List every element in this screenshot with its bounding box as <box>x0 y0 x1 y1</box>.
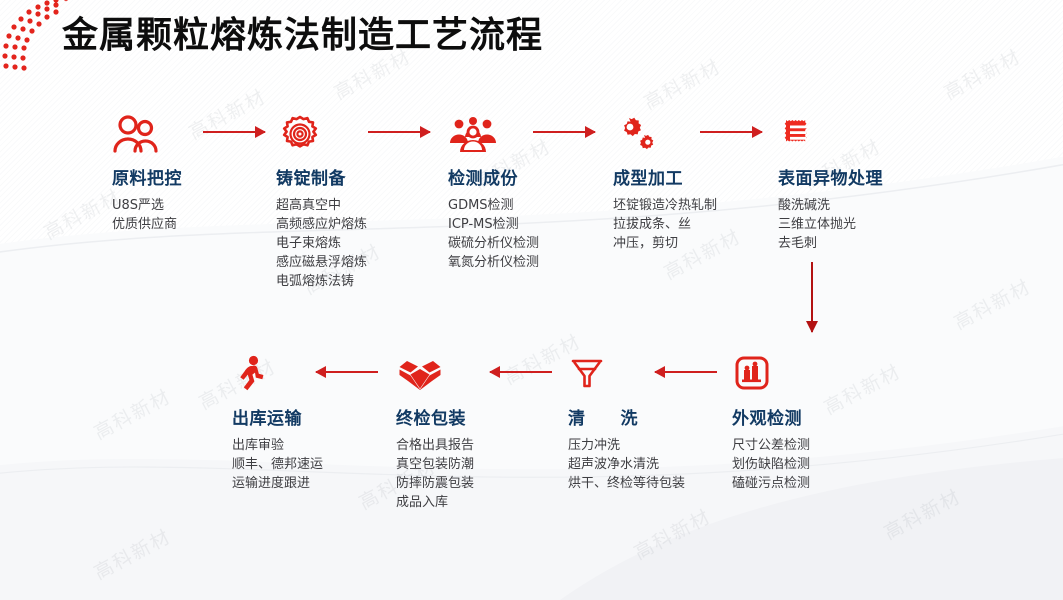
step-detail-lines: U8S严选 优质供应商 <box>112 196 277 234</box>
step-detail-line: 顺丰、德邦速运 <box>232 455 397 474</box>
step-title: 表面异物处理 <box>778 164 943 189</box>
step-detail-line: U8S严选 <box>112 196 277 215</box>
step-title: 成型加工 <box>613 164 778 189</box>
step-title: 检测成份 <box>448 164 613 189</box>
step-detail-lines: 坯锭锻造冷热轧制 拉拔成条、丝 冲压，剪切 <box>613 196 778 253</box>
step-detail-line: 碳硫分析仪检测 <box>448 234 613 253</box>
step-detail-lines: 合格出具报告 真空包装防潮 防摔防震包装 成品入库 <box>396 436 561 512</box>
open-box-icon <box>396 352 561 394</box>
slide-canvas: 高科新材 高科新材 高科新材 高科新材 高科新材 高科新材 高科新材 高科新材 … <box>0 0 1063 600</box>
step-ingot-preparation[interactable]: 铸锭制备 超高真空中 高频感应炉熔炼 电子束熔炼 感应磁悬浮熔炼 电弧熔炼法铸 <box>276 112 441 291</box>
step-appearance-inspection[interactable]: 外观检测 尺寸公差检测 划伤缺陷检测 磕碰污点检测 <box>732 352 897 493</box>
step-detail-line: 高频感应炉熔炼 <box>276 215 441 234</box>
step-cleaning[interactable]: 清 洗 压力冲洗 超声波净水清洗 烘干、终检等待包装 <box>568 352 733 493</box>
step-detail-line: 成品入库 <box>396 493 561 512</box>
watermark-text: 高科新材 <box>89 522 176 585</box>
step-final-inspection-packaging[interactable]: 终检包装 合格出具报告 真空包装防潮 防摔防震包装 成品入库 <box>396 352 561 512</box>
step-detail-line: 运输进度跟进 <box>232 474 397 493</box>
inspection-badge-icon <box>732 352 897 394</box>
step-detail-line: 防摔防震包装 <box>396 474 561 493</box>
step-detail-line: 氧氮分析仪检测 <box>448 253 613 272</box>
step-detail-line: 合格出具报告 <box>396 436 561 455</box>
stamp-document-icon <box>778 112 943 154</box>
step-surface-treatment[interactable]: 表面异物处理 酸洗碱洗 三维立体抛光 去毛刺 <box>778 112 943 253</box>
connector-arrow-right <box>368 126 430 138</box>
step-detail-lines: 出库审验 顺丰、德邦速运 运输进度跟进 <box>232 436 397 493</box>
step-detail-line: 电子束熔炼 <box>276 234 441 253</box>
step-detail-line: 压力冲洗 <box>568 436 686 455</box>
step-detail-line: 优质供应商 <box>112 215 277 234</box>
step-detail-line: 烘干、终检等待包装 <box>568 474 686 493</box>
step-detail-lines: GDMS检测 ICP-MS检测 碳硫分析仪检测 氧氮分析仪检测 <box>448 196 613 272</box>
step-detail-line: 拉拔成条、丝 <box>613 215 778 234</box>
step-detail-line: 超声波净水清洗 <box>568 455 686 474</box>
step-detail-line: 冲压，剪切 <box>613 234 778 253</box>
step-detail-lines: 尺寸公差检测 划伤缺陷检测 磕碰污点检测 <box>732 436 897 493</box>
watermark-text: 高科新材 <box>949 272 1036 335</box>
watermark-text: 高科新材 <box>89 382 176 445</box>
walking-person-icon <box>232 352 397 394</box>
step-title: 外观检测 <box>732 404 897 429</box>
step-title: 清 洗 <box>568 404 733 429</box>
step-title: 出库运输 <box>232 404 397 429</box>
connector-arrow-right <box>203 126 265 138</box>
step-detail-line: 划伤缺陷检测 <box>732 455 897 474</box>
connector-arrow-right <box>700 126 762 138</box>
step-detail-line: 出库审验 <box>232 436 397 455</box>
step-title: 铸锭制备 <box>276 164 441 189</box>
step-detail-lines: 酸洗碱洗 三维立体抛光 去毛刺 <box>778 196 943 253</box>
step-title: 终检包装 <box>396 404 561 429</box>
step-detail-line: 三维立体抛光 <box>778 215 943 234</box>
step-detail-line: GDMS检测 <box>448 196 613 215</box>
step-detail-lines: 超高真空中 高频感应炉熔炼 电子束熔炼 感应磁悬浮熔炼 电弧熔炼法铸 <box>276 196 441 291</box>
step-detail-line: ICP-MS检测 <box>448 215 613 234</box>
step-detail-lines: 压力冲洗 超声波净水清洗 烘干、终检等待包装 <box>568 436 686 493</box>
step-detail-line: 真空包装防潮 <box>396 455 561 474</box>
connector-arrow-right <box>533 126 595 138</box>
step-detail-line: 磕碰污点检测 <box>732 474 897 493</box>
step-outbound-transport[interactable]: 出库运输 出库审验 顺丰、德邦速运 运输进度跟进 <box>232 352 397 493</box>
step-detail-line: 尺寸公差检测 <box>732 436 897 455</box>
page-header: 金属颗粒熔炼法制造工艺流程 <box>0 0 1063 80</box>
page-title: 金属颗粒熔炼法制造工艺流程 <box>62 6 543 58</box>
watermark-text: 高科新材 <box>629 502 716 565</box>
step-detail-line: 超高真空中 <box>276 196 441 215</box>
step-title: 原料把控 <box>112 164 277 189</box>
step-detail-line: 坯锭锻造冷热轧制 <box>613 196 778 215</box>
step-detail-line: 去毛刺 <box>778 234 943 253</box>
step-detail-line: 酸洗碱洗 <box>778 196 943 215</box>
step-detail-line: 电弧熔炼法铸 <box>276 272 441 291</box>
step-detail-line: 感应磁悬浮熔炼 <box>276 253 441 272</box>
connector-arrow-down <box>806 262 818 332</box>
funnel-icon <box>568 352 733 394</box>
